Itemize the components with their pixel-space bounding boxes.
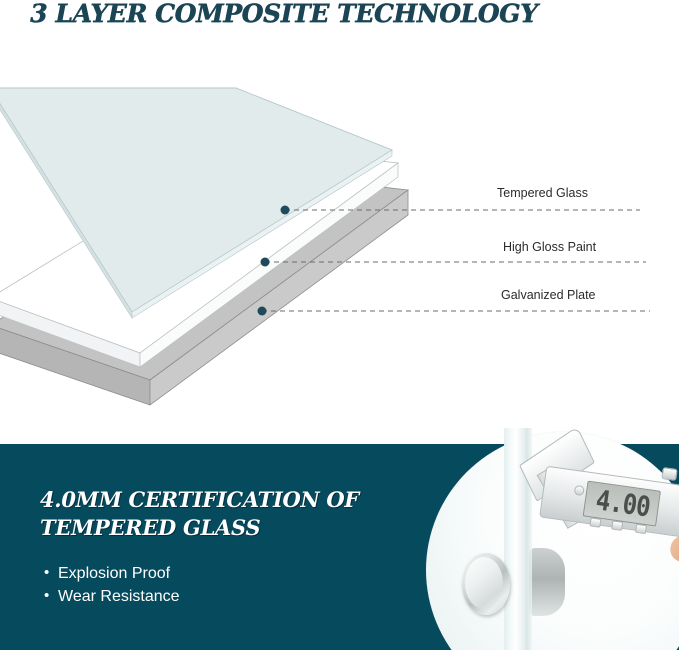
- caliper-photo: 4.00: [404, 428, 679, 650]
- leader-line-high-gloss-paint: [261, 258, 647, 267]
- leader-line-galvanized-plate: [258, 307, 651, 316]
- standoff-disc-front: [462, 553, 510, 615]
- layer-label-high-gloss-paint: High Gloss Paint: [503, 240, 596, 254]
- caliper-thumbwheel: [661, 467, 678, 481]
- panel-heading: 4.0MM CERTIFICATION OF TEMPERED GLASS: [40, 486, 370, 542]
- leader-line-tempered-glass: [281, 206, 641, 215]
- caliper-button-onoff: [574, 485, 585, 496]
- caliper-button-mode: [611, 520, 623, 530]
- caliper-button-unit: [635, 524, 647, 534]
- infographic-canvas: 3 LAYER COMPOSITE TECHNOLOGY: [0, 0, 679, 650]
- layer-label-tempered-glass: Tempered Glass: [497, 186, 588, 200]
- list-item: Wear Resistance: [44, 585, 180, 608]
- digital-caliper: 4.00: [522, 442, 679, 572]
- list-item: Explosion Proof: [44, 562, 180, 585]
- panel-bullet-list: Explosion Proof Wear Resistance: [44, 562, 180, 608]
- leader-group: Tempered Glass High Gloss Paint Galvaniz…: [0, 0, 679, 430]
- caliper-button-zero: [589, 517, 601, 527]
- caliper-body: 4.00: [539, 466, 679, 539]
- layer-label-galvanized-plate: Galvanized Plate: [501, 288, 596, 302]
